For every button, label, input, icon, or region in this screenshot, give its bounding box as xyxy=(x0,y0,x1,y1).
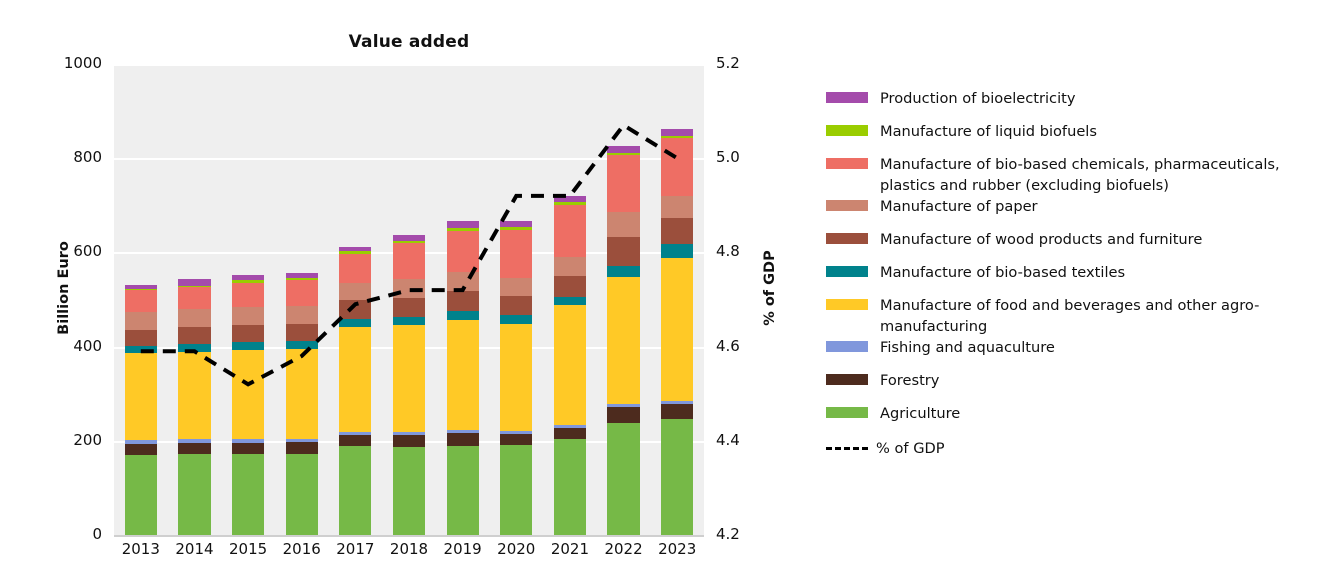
legend-label: Agriculture xyxy=(880,403,960,424)
legend-color-swatch xyxy=(826,200,868,211)
legend-item[interactable]: Manufacture of wood products and furnitu… xyxy=(826,229,1326,250)
y-tick-right: 4.6 xyxy=(716,337,776,355)
plot-area xyxy=(114,64,704,535)
x-tick-2017: 2017 xyxy=(325,540,385,558)
legend-item[interactable]: Manufacture of liquid biofuels xyxy=(826,121,1326,142)
legend-label: Manufacture of liquid biofuels xyxy=(880,121,1097,142)
y-tick-left: 0 xyxy=(44,525,102,543)
legend-label: Production of bioelectricity xyxy=(880,88,1075,109)
legend-label: Manufacture of bio-based textiles xyxy=(880,262,1125,283)
x-tick-2014: 2014 xyxy=(164,540,224,558)
x-tick-2013: 2013 xyxy=(111,540,171,558)
y-tick-right: 4.2 xyxy=(716,525,776,543)
legend-label: Manufacture of bio-based chemicals, phar… xyxy=(880,154,1326,196)
legend-item[interactable]: Forestry xyxy=(826,370,1326,391)
legend-color-swatch xyxy=(826,233,868,244)
legend-color-swatch xyxy=(826,341,868,352)
legend-item[interactable]: Production of bioelectricity xyxy=(826,88,1326,109)
legend-color-swatch xyxy=(826,407,868,418)
legend-item[interactable]: Manufacture of bio-based chemicals, phar… xyxy=(826,154,1326,196)
legend-item[interactable]: % of GDP xyxy=(826,438,1326,459)
legend-label: Manufacture of paper xyxy=(880,196,1038,217)
y-tick-left: 600 xyxy=(44,242,102,260)
y-tick-left: 800 xyxy=(44,148,102,166)
legend-item[interactable]: Fishing and aquaculture xyxy=(826,337,1326,358)
y-tick-right: 4.4 xyxy=(716,431,776,449)
x-tick-2023: 2023 xyxy=(647,540,707,558)
x-tick-2020: 2020 xyxy=(486,540,546,558)
legend-color-swatch xyxy=(826,374,868,385)
x-tick-2015: 2015 xyxy=(218,540,278,558)
chart-root: Value added Billion Euro % of GDP 020040… xyxy=(0,0,1332,588)
legend-color-swatch xyxy=(826,92,868,103)
chart-title: Value added xyxy=(114,32,704,52)
legend-item[interactable]: Manufacture of bio-based textiles xyxy=(826,262,1326,283)
y-tick-left: 200 xyxy=(44,431,102,449)
legend-label: Fishing and aquaculture xyxy=(880,337,1055,358)
y-tick-right: 5.0 xyxy=(716,148,776,166)
legend-item[interactable]: Manufacture of food and beverages and ot… xyxy=(826,295,1326,337)
y-tick-right: 5.2 xyxy=(716,54,776,72)
x-tick-2016: 2016 xyxy=(272,540,332,558)
legend-item[interactable]: Manufacture of paper xyxy=(826,196,1326,217)
gdp-line xyxy=(141,125,677,384)
y-tick-right: 4.8 xyxy=(716,242,776,260)
chart-legend: Production of bioelectricityManufacture … xyxy=(826,88,1326,459)
x-axis-line xyxy=(114,535,704,537)
legend-color-swatch xyxy=(826,266,868,277)
x-tick-2022: 2022 xyxy=(594,540,654,558)
legend-label: Manufacture of food and beverages and ot… xyxy=(880,295,1326,337)
x-tick-2018: 2018 xyxy=(379,540,439,558)
x-tick-2021: 2021 xyxy=(540,540,600,558)
legend-color-swatch xyxy=(826,158,868,169)
legend-label: % of GDP xyxy=(876,438,945,459)
legend-dashed-line-icon xyxy=(826,447,868,450)
y-tick-left: 1000 xyxy=(44,54,102,72)
legend-color-swatch xyxy=(826,299,868,310)
y-tick-left: 400 xyxy=(44,337,102,355)
gdp-line-overlay xyxy=(114,64,704,535)
x-tick-2019: 2019 xyxy=(433,540,493,558)
legend-color-swatch xyxy=(826,125,868,136)
legend-label: Forestry xyxy=(880,370,939,391)
legend-label: Manufacture of wood products and furnitu… xyxy=(880,229,1202,250)
legend-item[interactable]: Agriculture xyxy=(826,403,1326,424)
